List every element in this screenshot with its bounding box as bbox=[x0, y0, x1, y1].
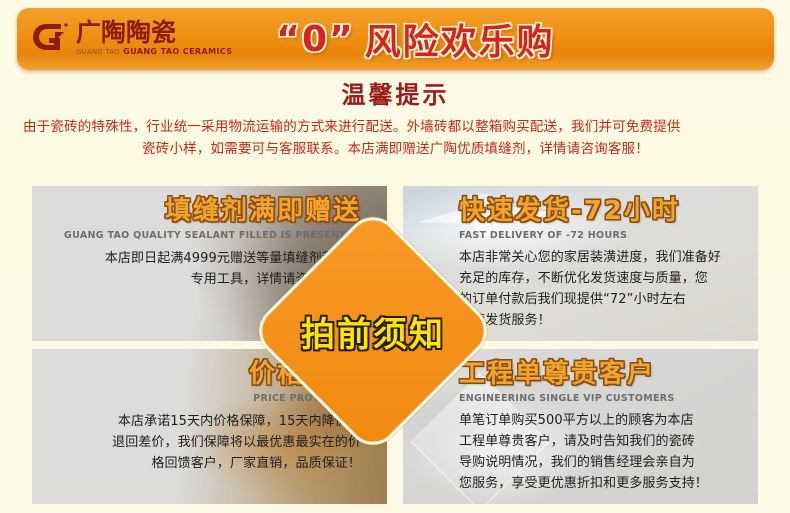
brand-logo: 广陶陶瓷 GUANG TAO GUANG TAO CERAMICS bbox=[31, 20, 246, 60]
body-line: 退回差价，我们保障将以最优惠最实在的价 bbox=[46, 432, 361, 453]
header-bar: 广陶陶瓷 GUANG TAO GUANG TAO CERAMICS “0” 风险… bbox=[17, 8, 774, 70]
center-diamond-badge: 拍前须知 bbox=[285, 243, 461, 419]
panel-body: 本店非常关心您的家居装潢进度，我们准备好 充足的库存，不断优化发货速度与质量，您… bbox=[459, 247, 744, 331]
guangtao-logo-mark-icon bbox=[31, 21, 71, 53]
tips-line: 瓷砖小样，如需要可与客服联系。本店满即赠送广陶优质填缝剂，详情请咨询客服！ bbox=[17, 138, 774, 160]
tips-heading: 温馨提示 bbox=[17, 80, 774, 110]
panel-subtitle: FAST DELIVERY OF -72 HOURS bbox=[459, 229, 744, 242]
body-line: 您服务，享受更优惠折扣和更多服务支持！ bbox=[459, 473, 744, 494]
panel-subtitle: GUANG TAO QUALITY SEALANT FILLED IS PRES… bbox=[46, 229, 361, 242]
panel-body: 本店承诺15天内价格保障，15天内降价将 退回差价，我们保障将以最优惠最实在的价… bbox=[46, 411, 361, 474]
brand-name-cn: 广陶陶瓷 bbox=[76, 20, 232, 46]
promo-banner: 广陶陶瓷 GUANG TAO GUANG TAO CERAMICS “0” 风险… bbox=[0, 0, 790, 513]
body-line: 工程单尊贵客户，请及时告知我们的瓷砖 bbox=[459, 431, 744, 452]
panel-body: 单笔订单购买500平方以上的顾客为本店 工程单尊贵客户，请及时告知我们的瓷砖 导… bbox=[459, 410, 744, 494]
panel-subtitle: ENGINEERING SINGLE VIP CUSTOMERS bbox=[459, 392, 744, 405]
panel-title: 填缝剂满即赠送 bbox=[46, 195, 361, 227]
tips-body: 由于瓷砖的特殊性，行业统一采用物流运输的方式来进行配送。外墙砖都以整箱购买配送，… bbox=[17, 116, 774, 160]
panel-title: 快速发货-72小时 bbox=[459, 195, 744, 227]
brand-name-en-small: GUANG TAO bbox=[76, 48, 120, 56]
badge-label: 拍前须知 bbox=[285, 243, 461, 419]
tips-section: 温馨提示 由于瓷砖的特殊性，行业统一采用物流运输的方式来进行配送。外墙砖都以整箱… bbox=[17, 76, 774, 180]
page-title-rest: 风险欢乐购 bbox=[365, 13, 555, 65]
body-line: 快速发货服务！ bbox=[459, 310, 744, 331]
brand-name-en: GUANG TAO GUANG TAO CERAMICS bbox=[76, 47, 232, 57]
page-title-zero: “0” bbox=[276, 19, 354, 60]
body-line: 导购说明情况，我们的销售经理会亲自为 bbox=[459, 452, 744, 473]
body-line: 充足的库存，不断优化发货速度与质量，您 bbox=[459, 268, 744, 289]
tips-line: 由于瓷砖的特殊性，行业统一采用物流运输的方式来进行配送。外墙砖都以整箱购买配送，… bbox=[17, 116, 774, 138]
brand-name-en-main: GUANG TAO CERAMICS bbox=[123, 47, 232, 56]
body-line: 的订单付款后我们现提供“72”小时左右 bbox=[459, 289, 744, 310]
body-line: 单笔订单购买500平方以上的顾客为本店 bbox=[459, 410, 744, 431]
body-line: 本店非常关心您的家居装潢进度，我们准备好 bbox=[459, 247, 744, 268]
panel-title: 工程单尊贵客户 bbox=[459, 358, 744, 390]
body-line: 格回馈客户，厂家直销，品质保证！ bbox=[46, 453, 361, 474]
